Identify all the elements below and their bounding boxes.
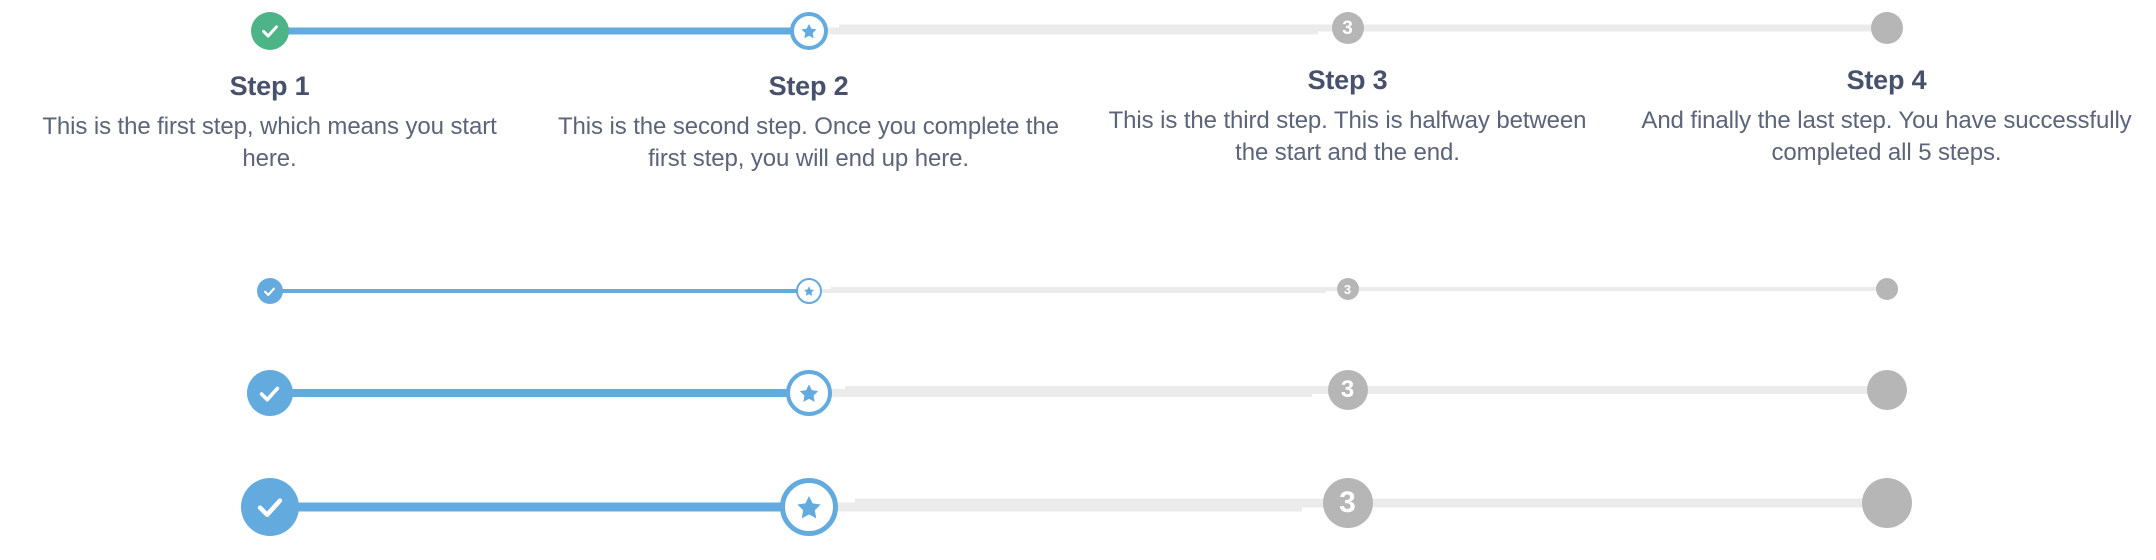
step-2-description: This is the second step. Once you comple… [553, 111, 1064, 176]
connector-before-step-4 [1378, 25, 1887, 32]
stepper-showcase: Step 1 This is the first step, which mea… [0, 0, 2156, 560]
lg-step-2-marker[interactable] [780, 478, 838, 536]
step-2-marker[interactable] [790, 12, 828, 50]
connector-before-step-2 [300, 28, 809, 35]
step-1-labels: Step 1 This is the first step, which mea… [0, 70, 539, 176]
lg-connector-before-step-3 [855, 499, 1348, 508]
lg-step-4-node [1617, 478, 2156, 528]
step-2-labels: Step 2 This is the second step. Once you… [539, 70, 1078, 176]
star-icon [800, 22, 818, 40]
star-icon [803, 285, 815, 297]
xs-step-3-marker[interactable]: 3 [1337, 278, 1359, 300]
xs-step-2-node [539, 278, 1078, 304]
xs-step-3-number: 3 [1344, 283, 1351, 296]
md-connector-before-step-3 [845, 386, 1348, 394]
md-step-4[interactable] [1617, 370, 2156, 410]
step-1-marker[interactable] [251, 12, 289, 50]
lg-connector-before-step-4 [1394, 499, 1887, 508]
step-1-description: This is the first step, which means you … [14, 111, 525, 176]
xs-step-2-marker[interactable] [796, 278, 822, 304]
xs-step-1-marker[interactable] [257, 278, 283, 304]
step-3-title: Step 3 [1092, 64, 1603, 97]
step-2-title: Step 2 [553, 70, 1064, 103]
xs-step-4-node [1617, 278, 2156, 300]
lg-step-3-number: 3 [1339, 488, 1356, 518]
connector-before-step-3 [839, 25, 1348, 32]
step-4-title: Step 4 [1631, 64, 2142, 97]
lg-connector-before-step-2 [316, 503, 809, 512]
stepper-extra-small: 3 [0, 278, 2156, 304]
step-1-title: Step 1 [14, 70, 525, 103]
md-step-1-marker[interactable] [247, 370, 293, 416]
step-3-marker[interactable]: 3 [1332, 12, 1364, 44]
stepper-medium: 3 [0, 370, 2156, 416]
md-step-4-marker[interactable] [1867, 370, 1907, 410]
star-icon [795, 493, 823, 521]
step-4-node [1617, 12, 2156, 44]
step-3-description: This is the third step. This is halfway … [1092, 105, 1603, 170]
lg-step-1-marker[interactable] [241, 478, 299, 536]
step-4-description: And finally the last step. You have succ… [1631, 105, 2142, 170]
check-icon [256, 380, 283, 407]
md-step-3-number: 3 [1341, 378, 1354, 402]
md-step-3-marker[interactable]: 3 [1328, 370, 1368, 410]
check-icon [259, 20, 281, 42]
lg-step-4-marker[interactable] [1862, 478, 1912, 528]
xs-step-4[interactable] [1617, 278, 2156, 300]
check-icon [262, 284, 277, 299]
stepper-large: 3 [0, 478, 2156, 536]
xs-connector-before-step-3 [831, 287, 1348, 291]
xs-step-2[interactable] [539, 278, 1078, 304]
stepper-with-labels: Step 1 This is the first step, which mea… [0, 12, 2156, 176]
xs-connector-before-step-4 [1370, 287, 1887, 291]
step-4-marker[interactable] [1871, 12, 1903, 44]
star-icon [798, 382, 820, 404]
md-connector-before-step-2 [306, 389, 809, 397]
check-icon [253, 490, 287, 524]
xs-step-4-marker[interactable] [1876, 278, 1898, 300]
md-step-4-node [1617, 370, 2156, 410]
step-3-labels: Step 3 This is the third step. This is h… [1078, 64, 1617, 170]
step-4-labels: Step 4 And finally the last step. You ha… [1617, 64, 2156, 170]
step-3[interactable]: 3 Step 3 This is the third step. This is… [1078, 12, 1617, 170]
md-connector-before-step-4 [1384, 386, 1887, 394]
step-1[interactable]: Step 1 This is the first step, which mea… [0, 12, 539, 176]
xs-connector-before-step-2 [292, 289, 809, 293]
step-4[interactable]: Step 4 And finally the last step. You ha… [1617, 12, 2156, 170]
step-2[interactable]: Step 2 This is the second step. Once you… [539, 12, 1078, 176]
lg-step-4[interactable] [1617, 478, 2156, 528]
step-3-number: 3 [1342, 19, 1353, 38]
md-step-2-marker[interactable] [786, 370, 832, 416]
lg-step-3-marker[interactable]: 3 [1323, 478, 1373, 528]
